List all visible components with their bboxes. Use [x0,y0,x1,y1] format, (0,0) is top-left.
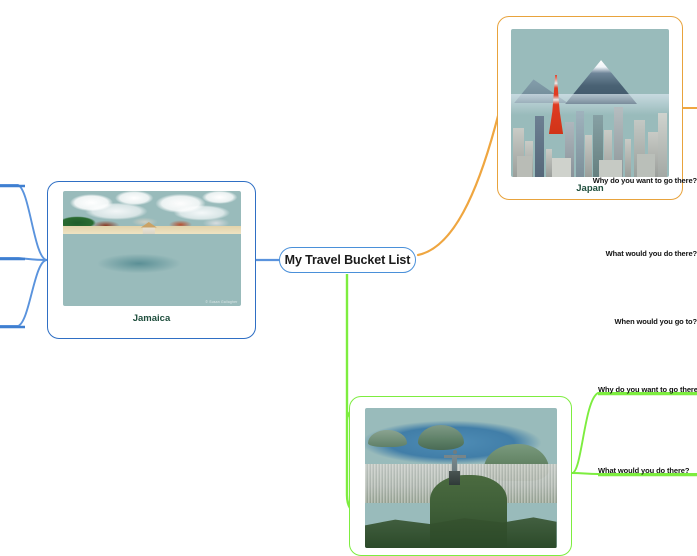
mindmap-canvas: My Travel Bucket List © Susan Gallagher … [0,0,697,520]
japan-photo [511,29,669,177]
japan-skyline [511,82,669,177]
edge-jamaica-sub-3 [0,260,47,326]
node-jamaica[interactable]: © Susan Gallagher Jamaica [47,181,256,339]
statue-pedestal [449,471,460,485]
statue-head [453,450,457,454]
brazil-photo [365,408,557,548]
jamaica-reef [77,251,202,276]
jamaica-sub-branch-3-label[interactable]: When would you go to? [615,317,697,326]
node-brazil[interactable] [349,396,572,556]
brazil-hill-left [368,430,406,447]
jamaica-photo-watermark: © Susan Gallagher [205,300,237,304]
central-node[interactable]: My Travel Bucket List [279,247,416,273]
edge-central-japan [418,108,500,255]
statue-body [452,455,457,472]
jamaica-sub-branch-1-label[interactable]: Why do you want to go there? [593,176,697,185]
edge-brazil-sub-1 [572,393,697,473]
node-japan[interactable]: Japan [497,16,683,200]
jamaica-sub-branch-2-label[interactable]: What would you do there? [606,249,697,258]
brazil-sub-branch-2-label[interactable]: What would you do there? [598,466,689,475]
jamaica-photo: © Susan Gallagher [63,191,241,306]
edge-jamaica-sub-1 [0,185,47,260]
jamaica-caption: Jamaica [133,313,171,324]
central-node-label: My Travel Bucket List [285,253,411,267]
brazil-christ-the-redeemer [444,450,466,494]
edge-jamaica-sub-2 [0,258,47,260]
brazil-sub-branch-1-label[interactable]: Why do you want to go there? [598,385,697,394]
